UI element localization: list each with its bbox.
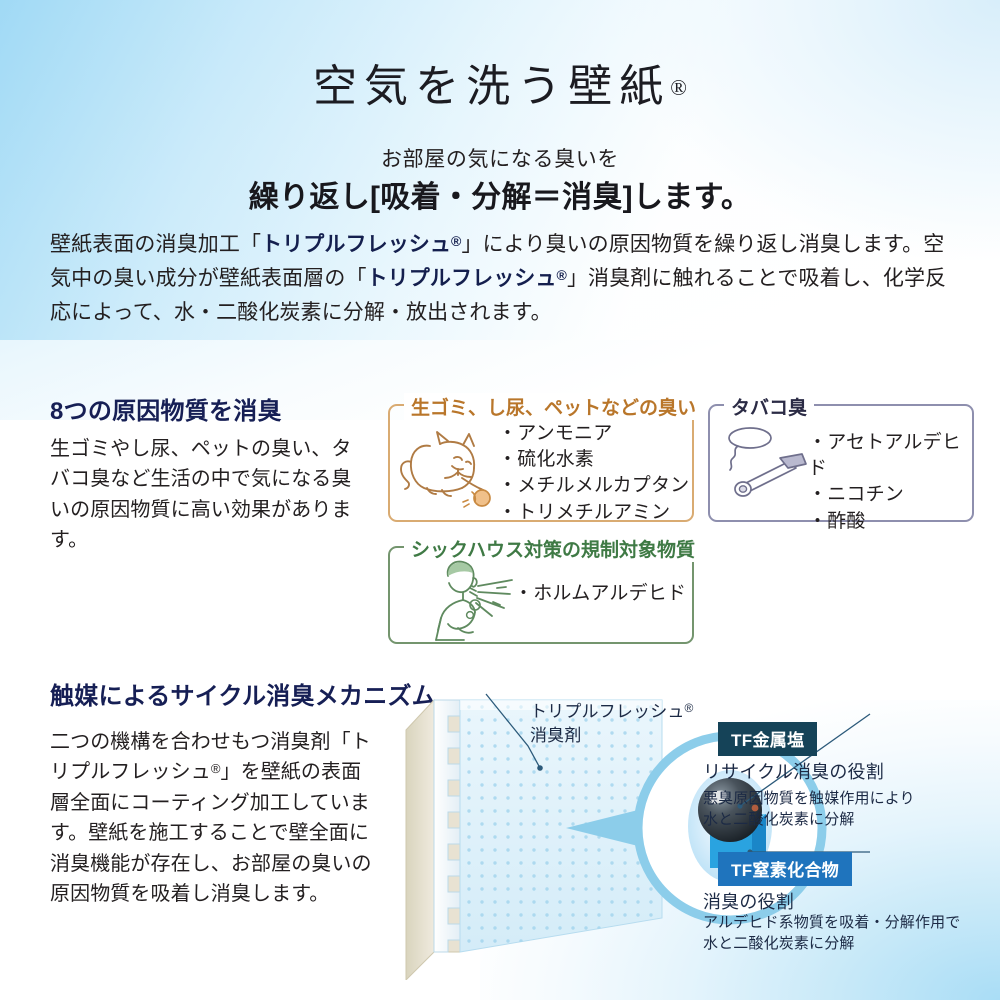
odor-box-kitchen-legend: 生ゴミ、し尿、ペットなどの臭い (404, 393, 703, 420)
lead-paragraph: 壁紙表面の消臭加工「トリプルフレッシュ®」により臭いの原因物質を繰り返し消臭しま… (50, 228, 955, 330)
section-mechanism-heading: 触媒によるサイクル消臭メカニズム (50, 676, 436, 711)
description-line: 水と二酸化炭素に分解 (703, 935, 855, 952)
tf-metal-salt-role: リサイクル消臭の役割 (703, 758, 884, 784)
odor-box-sickhouse-items: ・ホルムアルデヒド (514, 581, 686, 607)
tf-nitrogen-compound-description: アルデヒド系物質を吸着・分解作用で 水と二酸化炭素に分解 (703, 912, 960, 955)
list-item: ・アセトアルデヒド (808, 430, 972, 482)
registered-mark-icon: ® (451, 233, 461, 249)
odor-box-tobacco: タバコ臭 ・アセトアルデヒド ・ニコチン ・酢酸 (708, 404, 974, 522)
registered-mark-icon: ® (670, 75, 687, 100)
odor-box-kitchen-items: ・アンモニア ・硫化水素 ・メチルメルカプタン ・トリメチルアミン (498, 421, 689, 526)
background-gradient-top-right (620, 0, 1000, 260)
page-title-text: 空気を洗う壁紙 (313, 62, 670, 111)
section-odor-heading: 8つの原因物質を消臭 (50, 391, 282, 426)
odor-box-tobacco-legend: タバコ臭 (724, 393, 814, 420)
lead-brand-2: トリプルフレッシュ® (367, 267, 567, 290)
registered-mark-icon: ® (685, 701, 694, 715)
badge-tf-nitrogen-compound: TF窒素化合物 (718, 852, 852, 886)
section-mechanism-body: 二つの機構を合わせもつ消臭剤「トリプルフレッシュ®」を壁紙の表面層全面にコーティ… (50, 727, 380, 909)
odor-box-tobacco-items: ・アセトアルデヒド ・ニコチン ・酢酸 (808, 430, 972, 535)
list-item: ・酢酸 (808, 509, 972, 535)
list-item: ・ホルムアルデヒド (514, 581, 686, 607)
lead-brand-2-text: トリプルフレッシュ (367, 267, 557, 290)
infographic-page: 空気を洗う壁紙® お部屋の気になる臭いを 繰り返し[吸着・分解＝消臭]します。 … (0, 0, 1000, 1000)
callout-line-1: トリプルフレッシュ (530, 702, 685, 721)
lead-part-1: 壁紙表面の消臭加工「 (50, 233, 261, 256)
coughing-person-illustration (420, 558, 516, 642)
badge-tf-metal-salt: TF金属塩 (718, 722, 817, 756)
tf-nitrogen-compound-role: 消臭の役割 (703, 888, 794, 914)
list-item: ・硫化水素 (498, 447, 689, 473)
description-line: 水と二酸化炭素に分解 (703, 811, 855, 828)
odor-box-sickhouse: シックハウス対策の規制対象物質 (388, 546, 694, 644)
diagram-callout-deodorizer: トリプルフレッシュ® 消臭剤 (530, 700, 694, 748)
list-item: ・アンモニア (498, 421, 689, 447)
subtitle-line-1: お部屋の気になる臭いを (0, 143, 1000, 173)
subtitle-line-2: 繰り返し[吸着・分解＝消臭]します。 (0, 172, 1000, 216)
odor-box-kitchen: 生ゴミ、し尿、ペットなどの臭い (388, 404, 694, 522)
registered-mark-icon: ® (557, 267, 567, 283)
description-line: アルデヒド系物質を吸着・分解作用で (703, 914, 960, 931)
list-item: ・メチルメルカプタン (498, 473, 689, 499)
section-odor-body: 生ゴミやし尿、ペットの臭い、タバコ臭など生活の中で気になる臭いの原因物質に高い効… (50, 434, 370, 556)
list-item: ・ニコチン (808, 482, 972, 508)
cigarette-illustration (716, 424, 810, 504)
description-line: 悪臭原因物質を触媒作用により (703, 790, 915, 807)
lead-brand-1-text: トリプルフレッシュ (261, 233, 451, 256)
callout-line-2: 消臭剤 (530, 726, 582, 745)
list-item: ・トリメチルアミン (498, 500, 689, 526)
page-title: 空気を洗う壁紙® (0, 50, 1000, 114)
tf-metal-salt-description: 悪臭原因物質を触媒作用により 水と二酸化炭素に分解 (703, 788, 915, 831)
cat-playing-illustration (396, 422, 500, 508)
registered-mark-icon: ® (211, 761, 221, 776)
lead-brand-1: トリプルフレッシュ® (261, 233, 461, 256)
